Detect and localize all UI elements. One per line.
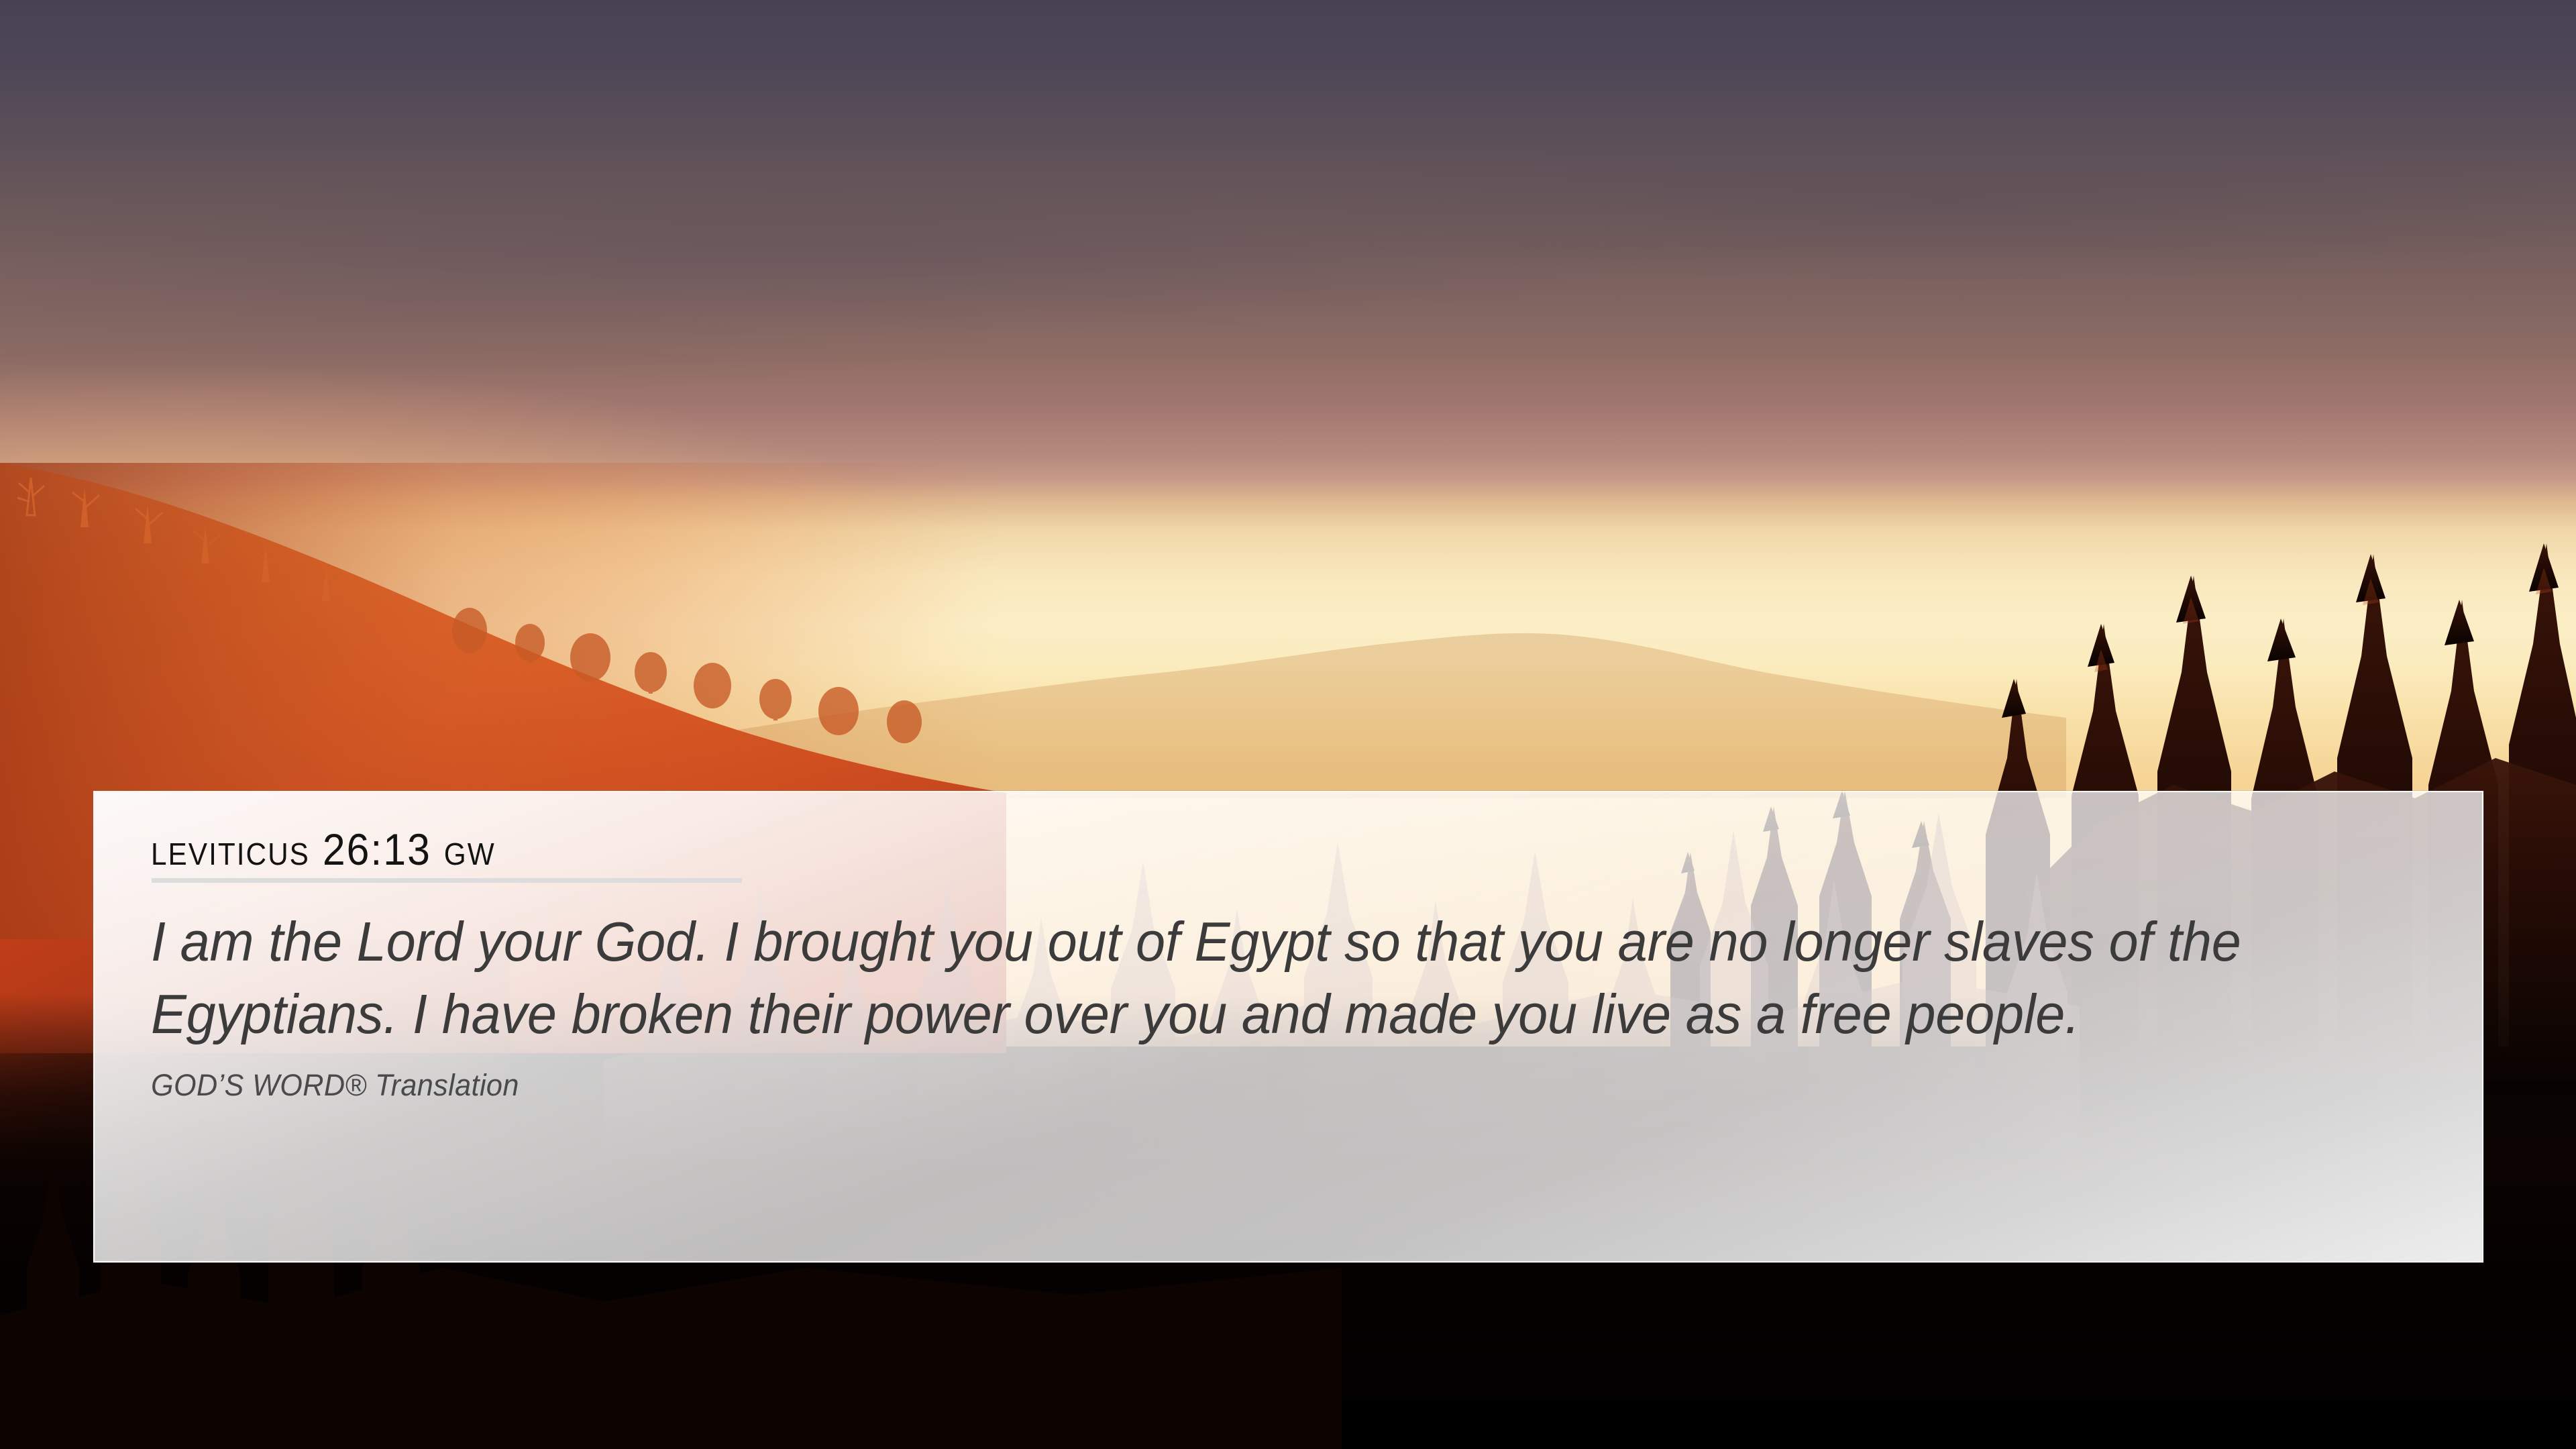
- quote-panel-content: Leviticus 26:13 GW I am the Lord your Go…: [95, 792, 2482, 1261]
- verse-reference: Leviticus 26:13 GW: [151, 827, 496, 871]
- reference-underline: [152, 878, 742, 883]
- verse-image-scene: Leviticus 26:13 GW I am the Lord your Go…: [0, 0, 2576, 1449]
- translation-credit: GOD’S WORD® Translation: [151, 1068, 2389, 1103]
- verse-quote-panel: Leviticus 26:13 GW I am the Lord your Go…: [93, 791, 2483, 1263]
- verse-text: I am the Lord your God. I brought you ou…: [151, 906, 2322, 1051]
